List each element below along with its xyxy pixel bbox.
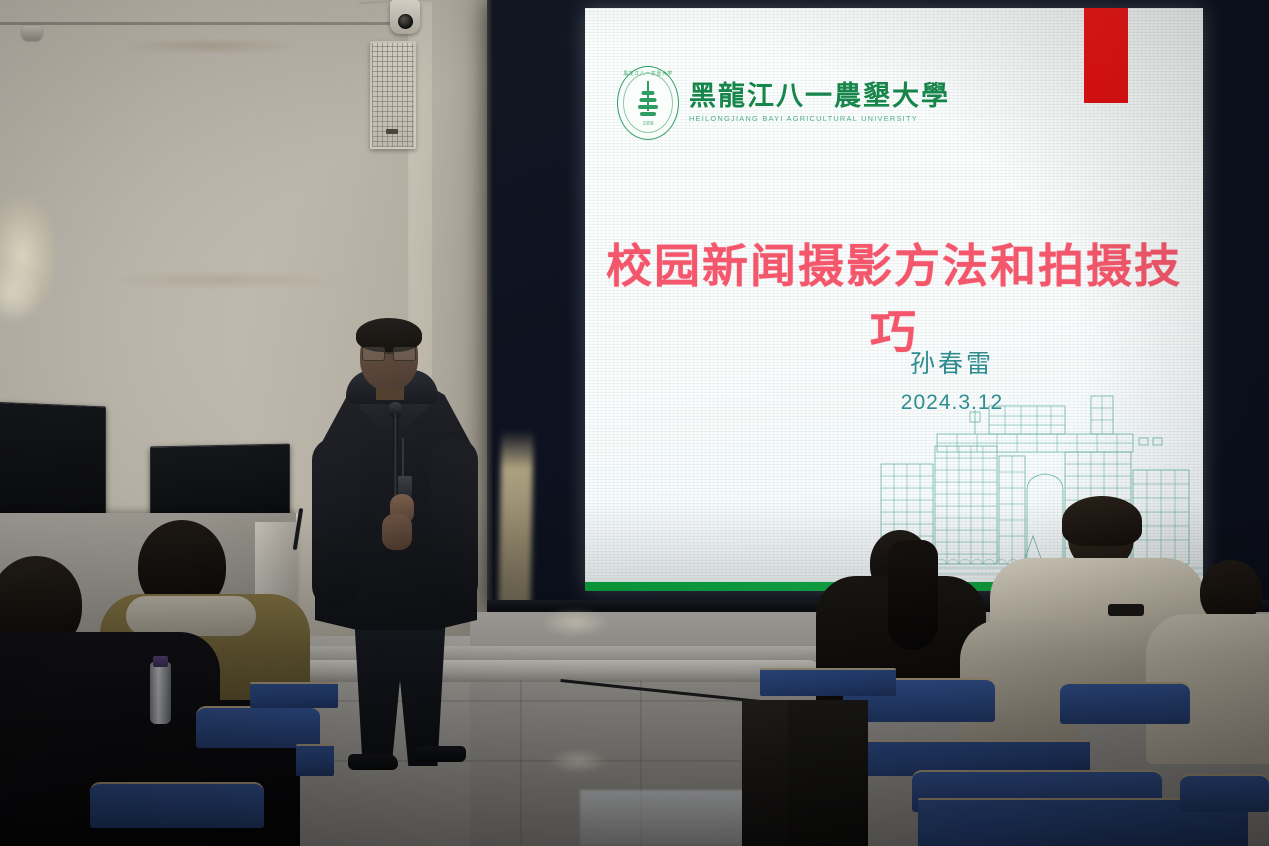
floor-reflection <box>548 748 608 774</box>
wheat-icon <box>636 87 660 121</box>
university-name-block: 黑龍江八一農墾大學 HEILONGJIANG BAYI AGRICULTURAL… <box>689 83 950 122</box>
dome-camera-icon <box>390 0 420 34</box>
student-hair <box>1062 496 1142 546</box>
seal-year: 1958 <box>618 121 678 127</box>
floor-tile-line <box>520 680 522 846</box>
bag-column <box>742 700 788 846</box>
chair-back[interactable] <box>1060 682 1190 724</box>
speaker-badge <box>386 129 398 134</box>
camera-lens <box>398 14 413 29</box>
presenter-shoe-left <box>348 754 398 770</box>
university-name-en: HEILONGJIANG BAYI AGRICULTURAL UNIVERSIT… <box>689 114 950 123</box>
speaker-grille-icon <box>370 41 416 149</box>
student-right-3 <box>1180 560 1269 760</box>
presenter-arm-left <box>312 438 360 608</box>
chair-back[interactable] <box>1180 774 1269 812</box>
desk-top[interactable] <box>760 668 896 696</box>
university-seal-icon: 黑龙江八一农垦大学 1958 <box>617 66 679 140</box>
presenter-shoe-right <box>414 746 466 762</box>
presenter-legs <box>348 618 452 766</box>
slide-title: 校园新闻摄影方法和拍摄技巧 <box>585 230 1203 362</box>
slide-author: 孙春雷 <box>585 344 1203 380</box>
presenter-hand <box>382 514 412 550</box>
desk-shadow-column <box>788 700 868 846</box>
presenter <box>310 318 510 778</box>
wall-seam <box>0 22 410 25</box>
glasses-icon <box>362 347 416 359</box>
jacket-detail <box>1108 604 1144 616</box>
presenter-arm-right <box>430 438 478 606</box>
presenter-lanyard <box>402 438 404 478</box>
desk-top[interactable] <box>250 682 338 708</box>
lecture-hall-photo: 黑龙江八一农垦大学 1958 黑龍江八一農墾大學 HEILONGJIANG BA… <box>0 0 1269 846</box>
podium-monitor-left[interactable] <box>0 402 106 522</box>
slide-accent-bar <box>1084 8 1128 103</box>
wall-mark <box>120 38 300 54</box>
bottle-cap <box>153 656 168 667</box>
seal-top-text: 黑龙江八一农垦大学 <box>618 70 678 77</box>
university-name-cn: 黑龍江八一農墾大學 <box>689 83 950 111</box>
floor-reflection <box>540 608 610 638</box>
ceiling-light-reflection-2 <box>0 262 40 324</box>
student-hair <box>888 540 938 650</box>
university-logo-lockup: 黑龙江八一农垦大学 1958 黑龍江八一農墾大學 HEILONGJIANG BA… <box>617 66 950 140</box>
wall-mark-lower <box>110 270 340 290</box>
desk-top[interactable] <box>296 744 334 776</box>
chair-back[interactable] <box>90 782 264 828</box>
water-bottle-icon <box>150 662 171 724</box>
wall-sensor <box>22 26 42 40</box>
chair-back[interactable] <box>196 706 320 748</box>
podium-monitor-right[interactable] <box>150 444 290 524</box>
